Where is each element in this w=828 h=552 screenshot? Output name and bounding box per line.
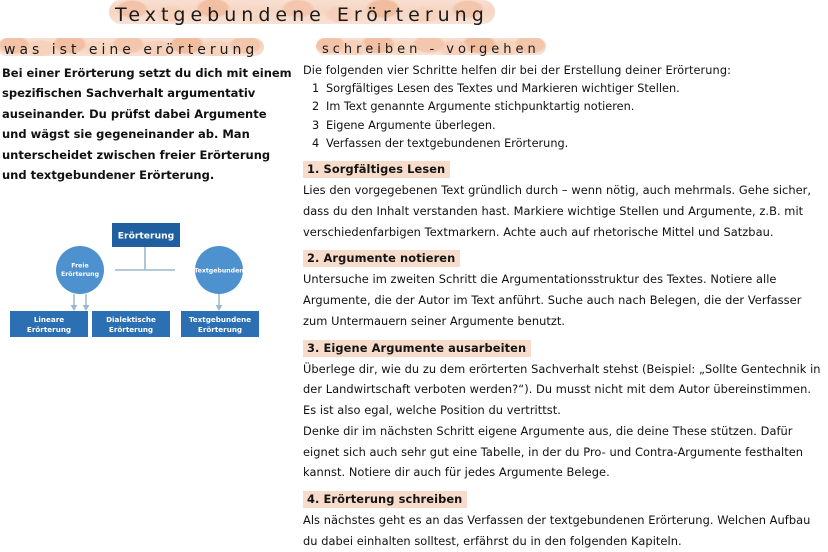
diagram-leaf-dialektische-line1: Dialektische — [106, 315, 156, 324]
right-section-title: schreiben - vorgehen — [322, 42, 540, 57]
left-section-title-text: was ist eine erörterung — [4, 42, 258, 58]
section-heading: 1. Sorgfältiges Lesen — [303, 161, 450, 178]
section-eroerterung-schreiben: 4. Erörterung schreiben Als nächstes geh… — [303, 488, 825, 552]
section-sorgfaeltiges-lesen: 1. Sorgfältiges Lesen Lies den vorgegebe… — [303, 158, 825, 242]
section-heading: 3. Eigene Argumente ausarbeiten — [303, 340, 531, 357]
left-section-title: was ist eine erörterung — [4, 42, 258, 58]
section-body: Überlege dir, wie du zu dem erörterten S… — [303, 359, 825, 484]
section-heading: 2. Argumente notieren — [303, 250, 460, 267]
arrowhead-textgebundene — [216, 305, 223, 311]
step-text: Sorgfältiges Lesen des Textes und Markie… — [326, 80, 825, 98]
diagram-leaf-lineare-line2: Erörterung — [27, 325, 71, 334]
section-argumente-notieren: 2. Argumente notieren Untersuche im zwei… — [303, 247, 825, 331]
step-text: Verfassen der textgebundenen Erörterung. — [326, 135, 825, 153]
step-text: Eigene Argumente überlegen. — [326, 117, 825, 135]
arrowhead-dialektisch — [83, 305, 90, 311]
section-paragraph: Lies den vorgegebenen Text gründlich dur… — [303, 180, 825, 242]
eroerterung-type-diagram: Erörterung Freie Erörterung Textgebunden… — [0, 213, 290, 343]
list-item: 2 Im Text genannte Argumente stichpunkta… — [303, 98, 825, 116]
right-section-title-text: schreiben - vorgehen — [322, 42, 540, 57]
diagram-leaf-dialektische-line2: Erörterung — [109, 325, 153, 334]
section-eigene-argumente-ausarbeiten: 3. Eigene Argumente ausarbeiten Überlege… — [303, 337, 825, 484]
section-body: Untersuche im zweiten Schritt die Argume… — [303, 269, 825, 331]
diagram-circle-freie-line1: Freie — [71, 262, 88, 269]
right-column: Die folgenden vier Schritte helfen dir b… — [303, 64, 825, 552]
steps-intro-text: Die folgenden vier Schritte helfen dir b… — [303, 64, 825, 77]
left-column: Bei einer Erörterung setzt du dich mit e… — [0, 63, 296, 343]
page-title: Textgebundene Erörterung — [115, 4, 489, 26]
list-item: 4 Verfassen der textgebundenen Erörterun… — [303, 135, 825, 153]
diagram-circle-textgebunden-label: Textgebunden — [194, 267, 243, 274]
list-item: 1 Sorgfältiges Lesen des Textes und Mark… — [303, 80, 825, 98]
steps-list: 1 Sorgfältiges Lesen des Textes und Mark… — [303, 80, 825, 153]
section-body: Lies den vorgegebenen Text gründlich dur… — [303, 180, 825, 242]
section-body: Als nächstes geht es an das Verfassen de… — [303, 510, 825, 552]
diagram-leaf-lineare-line1: Lineare — [34, 315, 64, 324]
definition-paragraph: Bei einer Erörterung setzt du dich mit e… — [0, 63, 296, 186]
diagram-circle-freie — [56, 246, 104, 294]
diagram-circle-freie-line2: Erörterung — [61, 271, 99, 278]
diagram-arrowheads — [71, 305, 223, 311]
step-number: 4 — [303, 135, 326, 153]
section-paragraph: Als nächstes geht es an das Verfassen de… — [303, 510, 825, 552]
page-title-text: Textgebundene Erörterung — [115, 4, 489, 26]
diagram-arrows — [74, 294, 219, 307]
step-number: 1 — [303, 80, 326, 98]
step-text: Im Text genannte Argumente stichpunktart… — [326, 98, 825, 116]
diagram-connectors — [115, 246, 175, 270]
step-number: 3 — [303, 117, 326, 135]
section-paragraph: Denke dir im nächsten Schritt eigene Arg… — [303, 421, 825, 483]
section-heading: 4. Erörterung schreiben — [303, 491, 467, 508]
diagram-leaf-textgebundene-line1: Textgebundene — [189, 315, 251, 324]
list-item: 3 Eigene Argumente überlegen. — [303, 117, 825, 135]
section-paragraph: Untersuche im zweiten Schritt die Argume… — [303, 269, 825, 331]
step-number: 2 — [303, 98, 326, 116]
diagram-root-label: Erörterung — [118, 230, 174, 241]
arrowhead-lineare — [71, 305, 78, 311]
diagram-leaf-textgebundene-line2: Erörterung — [198, 325, 242, 334]
section-paragraph: Überlege dir, wie du zu dem erörterten S… — [303, 359, 825, 421]
